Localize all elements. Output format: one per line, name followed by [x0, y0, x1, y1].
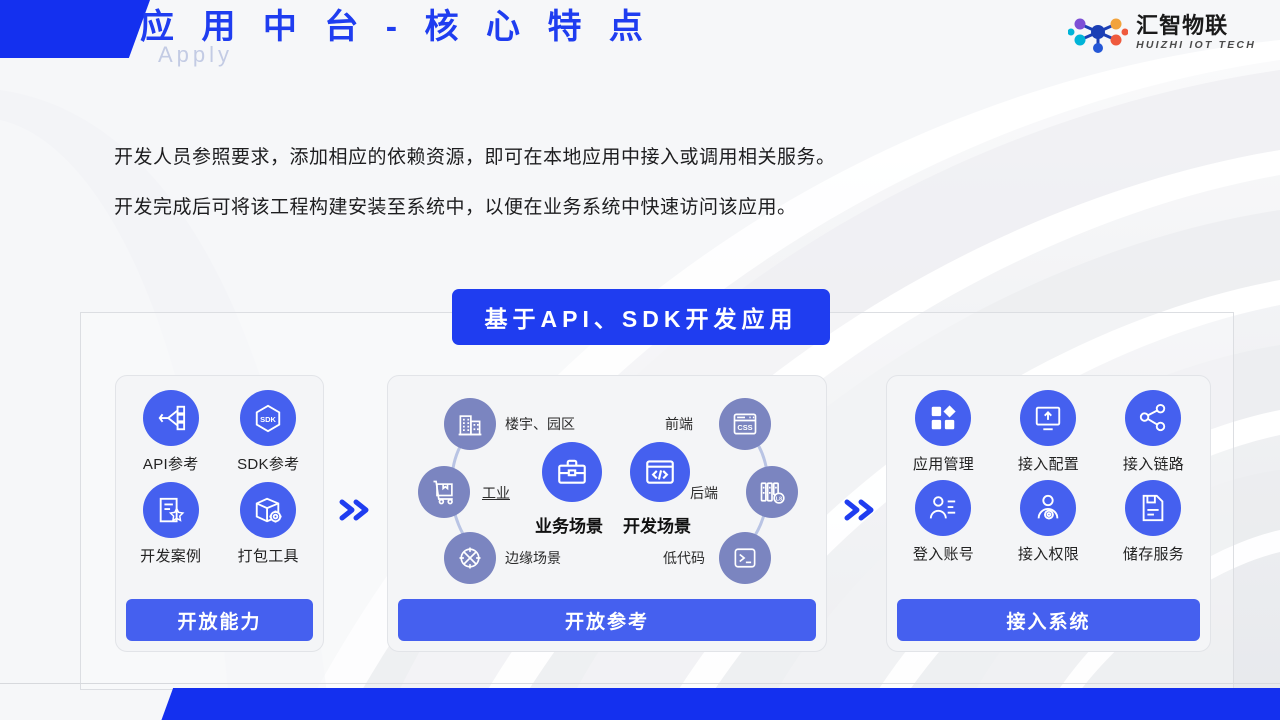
user-id-icon — [915, 480, 971, 536]
server-db-icon: L8 — [746, 466, 798, 518]
panel-right-body: 应用管理 接入配置 — [887, 376, 1210, 599]
node-backend[interactable]: L8 — [746, 466, 798, 518]
file-save-icon — [1125, 480, 1181, 536]
node-label: 前端 — [665, 414, 693, 434]
molecule-network-icon — [1068, 10, 1128, 54]
briefcase-icon — [542, 442, 602, 502]
item-label: 接入链路 — [1123, 453, 1184, 474]
item-label: 开发案例 — [140, 545, 201, 566]
item-label: SDK参考 — [237, 453, 299, 474]
code-window-icon — [630, 442, 690, 502]
api-share-icon — [143, 390, 199, 446]
logo-title: 汇智物联 — [1136, 13, 1228, 39]
panel-open-reference[interactable]: 楼宇、园区 工业 — [387, 375, 827, 652]
paragraph-1: 开发人员参照要求，添加相应的依赖资源，即可在本地应用中接入或调用相关服务。 — [114, 142, 836, 169]
center-left-label: 业务场景 — [535, 512, 603, 537]
node-frontend[interactable]: CSS — [719, 398, 771, 450]
building-icon — [444, 398, 496, 450]
flow-arrow-1 — [336, 495, 376, 525]
panel-left-body: API参考 SDK SDK参考 — [116, 376, 323, 599]
node-label: 低代码 — [663, 548, 705, 568]
node-edge[interactable] — [444, 532, 496, 584]
center-right-label: 开发场景 — [623, 512, 691, 537]
item-api-reference[interactable]: API参考 — [143, 390, 199, 474]
panel-right-footer-label[interactable]: 接入系统 — [897, 599, 1200, 641]
node-industry[interactable] — [418, 466, 470, 518]
double-chevron-right-icon — [841, 495, 881, 525]
edge-node-icon — [444, 532, 496, 584]
panel-right-icon-grid: 应用管理 接入配置 — [887, 376, 1210, 564]
logo-subtitle: HUIZHI IOT TECH — [1136, 39, 1256, 51]
flow-arrow-2 — [841, 495, 881, 525]
panel-mid-body: 楼宇、园区 工业 — [388, 376, 826, 599]
item-packaging-tool[interactable]: 打包工具 — [238, 482, 299, 566]
item-sdk-reference[interactable]: SDK SDK参考 — [237, 390, 299, 474]
double-chevron-right-icon — [336, 495, 376, 525]
css-browser-icon: CSS — [719, 398, 771, 450]
item-label: API参考 — [143, 453, 199, 474]
monitor-upload-icon — [1020, 390, 1076, 446]
header-accent-shape — [0, 0, 150, 58]
item-label: 接入权限 — [1018, 543, 1079, 564]
item-app-management[interactable]: 应用管理 — [913, 390, 974, 474]
grid-apps-icon — [915, 390, 971, 446]
node-label: 楼宇、园区 — [505, 414, 575, 434]
industry-cart-icon — [418, 466, 470, 518]
bottom-accent-shape — [160, 688, 1280, 720]
scenario-diagram: 楼宇、园区 工业 — [388, 376, 826, 599]
node-label: 工业 — [482, 483, 510, 503]
page-subtitle: Apply — [158, 42, 233, 68]
sdk-cube-icon: SDK — [240, 390, 296, 446]
terminal-icon — [719, 532, 771, 584]
svg-text:CSS: CSS — [737, 423, 752, 432]
center-dev-scene[interactable] — [630, 442, 690, 502]
item-dev-case[interactable]: 开发案例 — [140, 482, 201, 566]
panel-access-system[interactable]: 应用管理 接入配置 — [886, 375, 1211, 652]
item-access-config[interactable]: 接入配置 — [1018, 390, 1079, 474]
item-access-link[interactable]: 接入链路 — [1123, 390, 1184, 474]
item-label: 登入账号 — [913, 543, 974, 564]
item-label: 接入配置 — [1018, 453, 1079, 474]
item-label: 应用管理 — [913, 453, 974, 474]
panel-left-icon-grid: API参考 SDK SDK参考 — [116, 376, 323, 566]
node-label: 边缘场景 — [505, 548, 561, 568]
item-storage-service[interactable]: 储存服务 — [1123, 480, 1184, 564]
svg-text:SDK: SDK — [260, 415, 276, 424]
item-label: 打包工具 — [238, 545, 299, 566]
node-building[interactable] — [444, 398, 496, 450]
brand-logo: 汇智物联 HUIZHI IOT TECH — [1068, 10, 1256, 54]
user-gear-icon — [1020, 480, 1076, 536]
node-label: 后端 — [690, 483, 718, 503]
item-login-account[interactable]: 登入账号 — [913, 480, 974, 564]
item-label: 储存服务 — [1123, 543, 1184, 564]
svg-text:L8: L8 — [776, 496, 782, 502]
page-title-group: 应 用 中 台 - 核 心 特 点 Apply — [140, 4, 652, 50]
banner-title: 基于API、SDK开发应用 — [452, 289, 830, 345]
slide-root: 应 用 中 台 - 核 心 特 点 Apply 汇智物联 HUIZHI IOT … — [0, 0, 1280, 720]
node-lowcode[interactable] — [719, 532, 771, 584]
document-star-icon — [143, 482, 199, 538]
panel-mid-footer-label[interactable]: 开放参考 — [398, 599, 816, 641]
share-nodes-icon — [1125, 390, 1181, 446]
panel-open-capability[interactable]: API参考 SDK SDK参考 — [115, 375, 324, 652]
item-access-permission[interactable]: 接入权限 — [1018, 480, 1079, 564]
panel-left-footer-label[interactable]: 开放能力 — [126, 599, 313, 641]
bottom-divider — [0, 683, 1280, 685]
center-business-scene[interactable] — [542, 442, 602, 502]
paragraph-2: 开发完成后可将该工程构建安装至系统中，以便在业务系统中快速访问该应用。 — [114, 192, 797, 219]
box-gear-icon — [240, 482, 296, 538]
